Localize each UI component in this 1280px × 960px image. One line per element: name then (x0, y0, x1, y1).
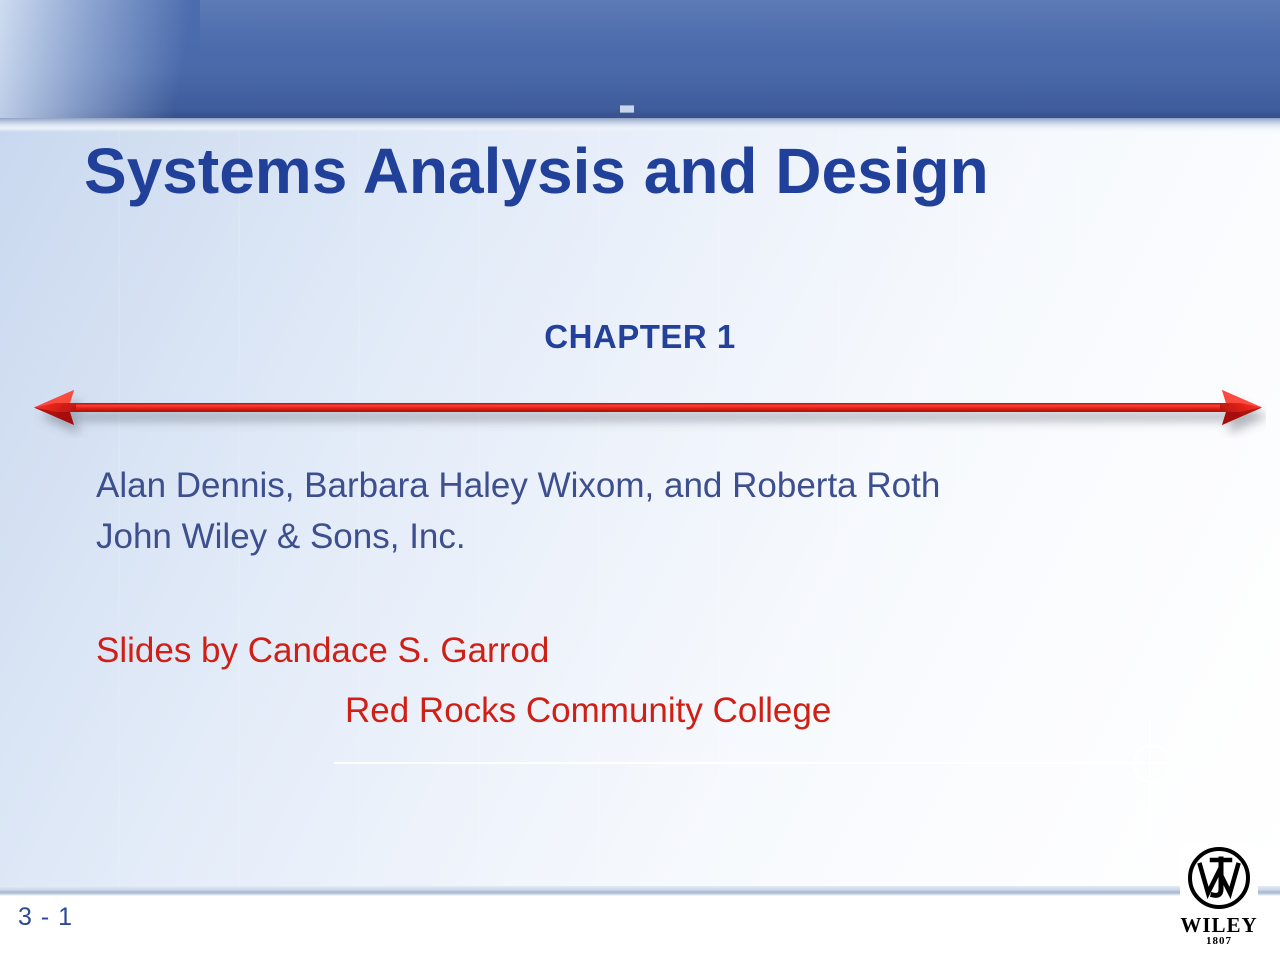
author-line-1: Alan Dennis, Barbara Haley Wixom, and Ro… (96, 460, 1206, 511)
credit-institution: Red Rocks Community College (345, 691, 831, 731)
double-headed-arrow-icon (30, 382, 1266, 438)
banner-left-highlight (0, 0, 200, 118)
chapter-label: CHAPTER 1 (0, 318, 1280, 356)
footer-divider (0, 886, 1280, 896)
banner-sheen (200, 0, 1280, 52)
banner-ray-burst (0, 0, 420, 118)
wiley-logo: WILEY 1807 (1180, 845, 1258, 960)
banner-dash-mark-icon (620, 105, 634, 113)
page-title: Systems Analysis and Design (84, 138, 1214, 205)
top-banner (0, 0, 1280, 118)
slide-number: 3 - 1 (18, 903, 73, 932)
wiley-sub-wordmark: 1807 (1180, 935, 1258, 947)
author-block: Alan Dennis, Barbara Haley Wixom, and Ro… (96, 460, 1206, 562)
credit-author: Slides by Candace S. Garrod (96, 631, 549, 671)
author-line-2: John Wiley & Sons, Inc. (96, 511, 1206, 562)
presentation-slide: Systems Analysis and Design CHAPTER 1 (0, 0, 1280, 960)
wiley-monogram-icon (1180, 845, 1258, 915)
footer (0, 896, 1280, 960)
